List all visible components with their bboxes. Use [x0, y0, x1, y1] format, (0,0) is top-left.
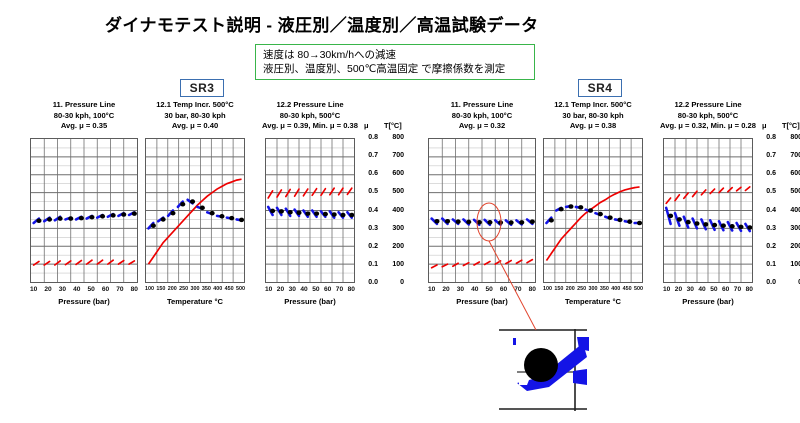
- chart-caption-line-1: 12.2 Pressure Line: [243, 100, 377, 111]
- temperature-axis-header: T[°C]: [782, 121, 800, 130]
- chart-x-axis-title: Temperature °C: [130, 297, 260, 306]
- mu-tick-label: 0.5: [760, 188, 776, 195]
- temperature-tick-label: 700: [782, 152, 800, 159]
- chart-plot-area: [543, 138, 643, 283]
- temperature-tick-label: 100: [384, 261, 404, 268]
- chart-plot-area: [145, 138, 245, 283]
- temperature-tick-label: 200: [384, 243, 404, 250]
- x-tick-label: 10: [30, 286, 37, 293]
- x-tick-label: 150: [156, 286, 165, 292]
- x-tick-label: 300: [589, 286, 598, 292]
- x-tick-label: 150: [554, 286, 563, 292]
- x-tick-label: 60: [500, 286, 507, 293]
- x-tick-label: 500: [634, 286, 643, 292]
- chart-caption-line-3: Avg. μ = 0.32, Min. μ = 0.28: [641, 121, 775, 132]
- temperature-tick-label: 600: [384, 170, 404, 177]
- x-tick-label: 30: [289, 286, 296, 293]
- note-callout-box: 速度は 80→30km/hへの減速 液圧別、温度別、500℃高温固定 で摩擦係数…: [255, 44, 535, 80]
- chart-x-axis-title: Temperature °C: [528, 297, 658, 306]
- x-tick-label: 20: [675, 286, 682, 293]
- temperature-tick-label: 500: [384, 188, 404, 195]
- mu-tick-label: 0.1: [760, 261, 776, 268]
- x-tick-label: 100: [543, 286, 552, 292]
- x-tick-label: 20: [442, 286, 449, 293]
- value-axis-row: 0.7700: [362, 152, 410, 161]
- temperature-tick-label: 400: [384, 207, 404, 214]
- x-tick-label: 10: [265, 286, 272, 293]
- x-tick-label: 450: [225, 286, 234, 292]
- x-tick-label: 350: [600, 286, 609, 292]
- chart-caption-line-3: Avg. μ = 0.39, Min. μ = 0.38: [243, 121, 377, 132]
- value-axis-row: 0.6600: [362, 170, 410, 179]
- temperature-tick-label: 400: [782, 207, 800, 214]
- detail-photo: [497, 327, 597, 415]
- x-tick-label: 250: [577, 286, 586, 292]
- chart-plot-area: [428, 138, 536, 283]
- value-axis-row: 0.8800: [362, 134, 410, 143]
- value-axis-row: 0.2200: [362, 243, 410, 252]
- chart-caption: 12.2 Pressure Line80-30 kph, 500°CAvg. μ…: [641, 100, 775, 132]
- x-tick-label: 10: [663, 286, 670, 293]
- x-tick-label: 30: [59, 286, 66, 293]
- x-tick-label: 350: [202, 286, 211, 292]
- x-tick-label: 200: [168, 286, 177, 292]
- value-axis-row: 0.3300: [362, 225, 410, 234]
- note-line-2: 液圧別、温度別、500℃高温固定 で摩擦係数を測定: [263, 62, 528, 76]
- x-tick-label: 30: [457, 286, 464, 293]
- temperature-tick-label: 0: [384, 279, 404, 286]
- temperature-tick-label: 300: [782, 225, 800, 232]
- mu-tick-label: 0.7: [362, 152, 378, 159]
- chart-caption-line-2: 80-30 kph, 500°C: [641, 111, 775, 122]
- mu-tick-label: 0.3: [362, 225, 378, 232]
- chart-x-axis-title: Pressure (bar): [250, 297, 370, 306]
- x-tick-label: 30: [687, 286, 694, 293]
- x-tick-label: 400: [611, 286, 620, 292]
- x-tick-label: 80: [529, 286, 536, 293]
- value-axis-row: 0.00: [362, 279, 410, 288]
- mu-tick-label: 0.6: [362, 170, 378, 177]
- value-axis: μT[°C]0.88000.77000.66000.55000.44000.33…: [362, 121, 410, 288]
- x-tick-label: 40: [73, 286, 80, 293]
- temperature-tick-label: 800: [782, 134, 800, 141]
- mu-tick-label: 0.0: [760, 279, 776, 286]
- temperature-tick-label: 800: [384, 134, 404, 141]
- chart-x-ticks: 100150200250300350400450500: [543, 286, 643, 292]
- chart-x-ticks: 1020304050607080: [428, 286, 536, 293]
- chart-caption-line-2: 80-30 kph, 500°C: [243, 111, 377, 122]
- x-tick-label: 450: [623, 286, 632, 292]
- x-tick-label: 60: [102, 286, 109, 293]
- x-tick-label: 70: [734, 286, 741, 293]
- chart-plot-area: [663, 138, 753, 283]
- x-tick-label: 50: [88, 286, 95, 293]
- value-axis-row: 0.5500: [760, 188, 800, 197]
- x-tick-label: 60: [324, 286, 331, 293]
- x-tick-label: 20: [277, 286, 284, 293]
- x-tick-label: 400: [213, 286, 222, 292]
- temperature-tick-label: 0: [782, 279, 800, 286]
- x-tick-label: 60: [722, 286, 729, 293]
- x-tick-label: 500: [236, 286, 245, 292]
- value-axis: μT[°C]0.88000.77000.66000.55000.44000.33…: [760, 121, 800, 288]
- x-tick-label: 200: [566, 286, 575, 292]
- chart-x-ticks: 1020304050607080: [663, 286, 753, 293]
- value-axis-row: 0.4400: [760, 207, 800, 216]
- x-tick-label: 20: [44, 286, 51, 293]
- mu-tick-label: 0.3: [760, 225, 776, 232]
- chart-x-axis-title: Pressure (bar): [648, 297, 768, 306]
- mu-axis-header: μ: [762, 121, 767, 130]
- x-tick-label: 50: [312, 286, 319, 293]
- mu-tick-label: 0.6: [760, 170, 776, 177]
- temperature-tick-label: 600: [782, 170, 800, 177]
- x-tick-label: 70: [336, 286, 343, 293]
- x-tick-label: 250: [179, 286, 188, 292]
- mu-tick-label: 0.4: [362, 207, 378, 214]
- mu-tick-label: 0.1: [362, 261, 378, 268]
- chart-plot-area: [30, 138, 138, 283]
- temperature-tick-label: 100: [782, 261, 800, 268]
- x-tick-label: 70: [514, 286, 521, 293]
- temperature-tick-label: 700: [384, 152, 404, 159]
- chart-caption: 12.2 Pressure Line80-30 kph, 500°CAvg. μ…: [243, 100, 377, 132]
- mu-axis-header: μ: [364, 121, 369, 130]
- value-axis-row: 0.1100: [760, 261, 800, 270]
- mu-tick-label: 0.4: [760, 207, 776, 214]
- x-tick-label: 70: [116, 286, 123, 293]
- x-tick-label: 40: [698, 286, 705, 293]
- value-axis-row: 0.1100: [362, 261, 410, 270]
- value-axis-row: 0.2200: [760, 243, 800, 252]
- group-label-sr3: SR3: [180, 79, 224, 97]
- page-title: ダイナモテスト説明 - 液圧別／温度別／高温試験データ: [105, 11, 539, 36]
- x-tick-label: 40: [471, 286, 478, 293]
- x-tick-label: 300: [191, 286, 200, 292]
- mu-tick-label: 0.7: [760, 152, 776, 159]
- value-axis-row: 0.7700: [760, 152, 800, 161]
- value-axis-row: 0.3300: [760, 225, 800, 234]
- group-label-sr4: SR4: [578, 79, 622, 97]
- x-tick-label: 80: [746, 286, 753, 293]
- mu-tick-label: 0.2: [362, 243, 378, 250]
- x-tick-label: 10: [428, 286, 435, 293]
- x-tick-label: 100: [145, 286, 154, 292]
- temperature-tick-label: 200: [782, 243, 800, 250]
- chart-x-ticks: 1020304050607080: [265, 286, 355, 293]
- value-axis-row: 0.8800: [760, 134, 800, 143]
- x-tick-label: 50: [486, 286, 493, 293]
- x-tick-label: 80: [131, 286, 138, 293]
- mu-tick-label: 0.8: [362, 134, 378, 141]
- x-tick-label: 40: [300, 286, 307, 293]
- temperature-tick-label: 300: [384, 225, 404, 232]
- value-axis-row: 0.00: [760, 279, 800, 288]
- chart-x-ticks: 1020304050607080: [30, 286, 138, 293]
- chart-plot-area: [265, 138, 355, 283]
- slide-root: ダイナモテスト説明 - 液圧別／温度別／高温試験データ 速度は 80→30km/…: [0, 0, 800, 423]
- mu-tick-label: 0.0: [362, 279, 378, 286]
- mu-tick-label: 0.8: [760, 134, 776, 141]
- chart-x-ticks: 100150200250300350400450500: [145, 286, 245, 292]
- chart-caption-line-1: 12.2 Pressure Line: [641, 100, 775, 111]
- mu-tick-label: 0.2: [760, 243, 776, 250]
- mu-tick-label: 0.5: [362, 188, 378, 195]
- x-tick-label: 80: [348, 286, 355, 293]
- note-line-1: 速度は 80→30km/hへの減速: [263, 48, 528, 62]
- temperature-axis-header: T[°C]: [384, 121, 402, 130]
- value-axis-row: 0.4400: [362, 207, 410, 216]
- temperature-tick-label: 500: [782, 188, 800, 195]
- x-tick-label: 50: [710, 286, 717, 293]
- value-axis-row: 0.6600: [760, 170, 800, 179]
- value-axis-row: 0.5500: [362, 188, 410, 197]
